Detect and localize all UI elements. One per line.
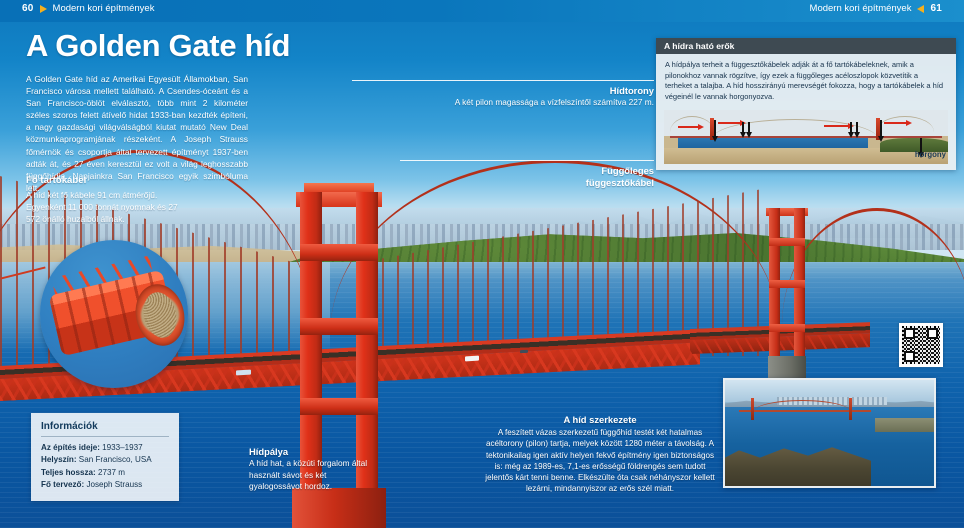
qr-code[interactable] [899, 323, 943, 367]
triangle-right-icon [40, 5, 47, 13]
forces-diagram [664, 110, 948, 164]
forces-panel-title: A hídra ható erők [656, 38, 956, 54]
info-row: Teljes hossza: 2737 m [41, 467, 169, 479]
diagram-side-cable-right [876, 116, 934, 132]
suspender-caption: Függőleges függesztőkábel [460, 165, 654, 189]
tower-crossbeam-1 [300, 244, 378, 261]
vehicle-bus [465, 356, 479, 362]
qr-finder-top-left [904, 328, 915, 339]
load-arrow-1 [714, 120, 716, 138]
far-tower-crossbeam-3 [769, 324, 805, 332]
photo-tower-right [849, 398, 852, 420]
triangle-left-icon [917, 5, 924, 13]
info-row-value: 1933–1937 [102, 443, 143, 452]
force-arrow-mid-1 [824, 125, 850, 127]
tower-base [292, 488, 386, 528]
encyclopedia-spread: 60 Modern kori építmények Modern kori ép… [0, 0, 964, 528]
roadway-caption-heading: Hídpálya [249, 446, 379, 457]
info-row-label: Teljes hossza: [41, 468, 96, 477]
tower-crossbeam-3 [300, 398, 378, 415]
info-row-label: Fő tervező: [41, 480, 84, 489]
force-arrow-right-1 [884, 122, 908, 124]
cable-cross-section-inset [40, 240, 188, 388]
info-row: Helyszín: San Francisco, USA [41, 454, 169, 466]
forces-panel: A hídra ható erők A hídpálya terheit a f… [656, 38, 956, 170]
info-box: Információk Az építés ideje: 1933–1937 H… [31, 413, 179, 501]
info-row-value: Joseph Strauss [86, 480, 142, 489]
far-tower [766, 208, 808, 378]
tower-caption-body: A két pilon magassága a vízfelszíntől sz… [430, 97, 654, 108]
vehicle-car [520, 350, 528, 353]
suspender-caption-leader [400, 160, 654, 161]
suspender-caption-heading2: függesztőkábel [460, 177, 654, 188]
header-right-group: Modern kori építmények 61 [810, 3, 942, 14]
info-box-title: Információk [41, 421, 169, 432]
right-page-number: 61 [930, 3, 942, 14]
info-box-divider [41, 436, 169, 437]
page-header-bar: 60 Modern kori építmények Modern kori ép… [0, 0, 964, 22]
info-row-label: Az építés ideje: [41, 443, 100, 452]
load-arrow-6 [880, 120, 882, 138]
load-arrow-5 [856, 122, 858, 134]
structure-heading: A híd szerkezete [485, 414, 715, 425]
header-left-group: 60 Modern kori építmények [22, 3, 154, 14]
golden-gate-aerial-photo [723, 378, 936, 488]
load-arrow-4 [850, 122, 852, 134]
info-row: Fő tervező: Joseph Strauss [41, 479, 169, 491]
roadway-caption: Hídpálya A híd hat, a közúti forgalom ál… [249, 446, 379, 493]
page-title: A Golden Gate híd [26, 28, 290, 64]
main-cable-block: Fő tartókábel A híd két fő kábele 91 cm … [26, 175, 186, 225]
anchor-label: horgony [915, 150, 946, 159]
info-row-value: San Francisco, USA [79, 455, 152, 464]
photo-tower-left [751, 398, 754, 420]
force-arrow-left-1 [678, 126, 700, 128]
left-section-title: Modern kori építmények [53, 3, 155, 14]
qr-finder-bottom-left [904, 351, 915, 362]
info-row-value: 2737 m [98, 468, 125, 477]
tower-caption-leader [352, 80, 654, 81]
structure-text-block: A híd szerkezete A feszített vázas szerk… [485, 414, 715, 495]
suspender-caption-heading: Függőleges [460, 165, 654, 176]
tower-caption-heading: Hídtorony [430, 85, 654, 96]
main-cable-right [782, 208, 964, 326]
photo-right-land [875, 418, 936, 432]
roadway-caption-body: A híd hat, a közúti forgalom által haszn… [249, 458, 379, 493]
vehicle-truck [236, 370, 251, 376]
far-tower-crossbeam-2 [769, 280, 805, 288]
info-row: Az építés ideje: 1933–1937 [41, 442, 169, 454]
qr-finder-top-right [927, 328, 938, 339]
tower-caption: Hídtorony A két pilon magassága a vízfel… [430, 85, 654, 108]
main-cable-body: A híd két fő kábele 91 cm átmérőjű. Egye… [26, 189, 186, 225]
far-tower-crossbeam-1 [769, 238, 805, 246]
forces-panel-body: A hídpálya terheit a függesztőkábelek ad… [656, 54, 956, 106]
right-section-title: Modern kori építmények [810, 3, 912, 14]
load-arrow-3 [748, 122, 750, 134]
main-cable-heading: Fő tartókábel [26, 175, 186, 187]
left-page-number: 60 [22, 3, 34, 14]
diagram-side-cable-left [670, 116, 714, 132]
info-row-label: Helyszín: [41, 455, 77, 464]
force-arrow-left-2 [718, 122, 742, 124]
structure-body: A feszített vázas szerkezetű függőhíd te… [485, 427, 715, 495]
load-arrow-2 [742, 122, 744, 134]
tower-crossbeam-2 [300, 318, 378, 335]
